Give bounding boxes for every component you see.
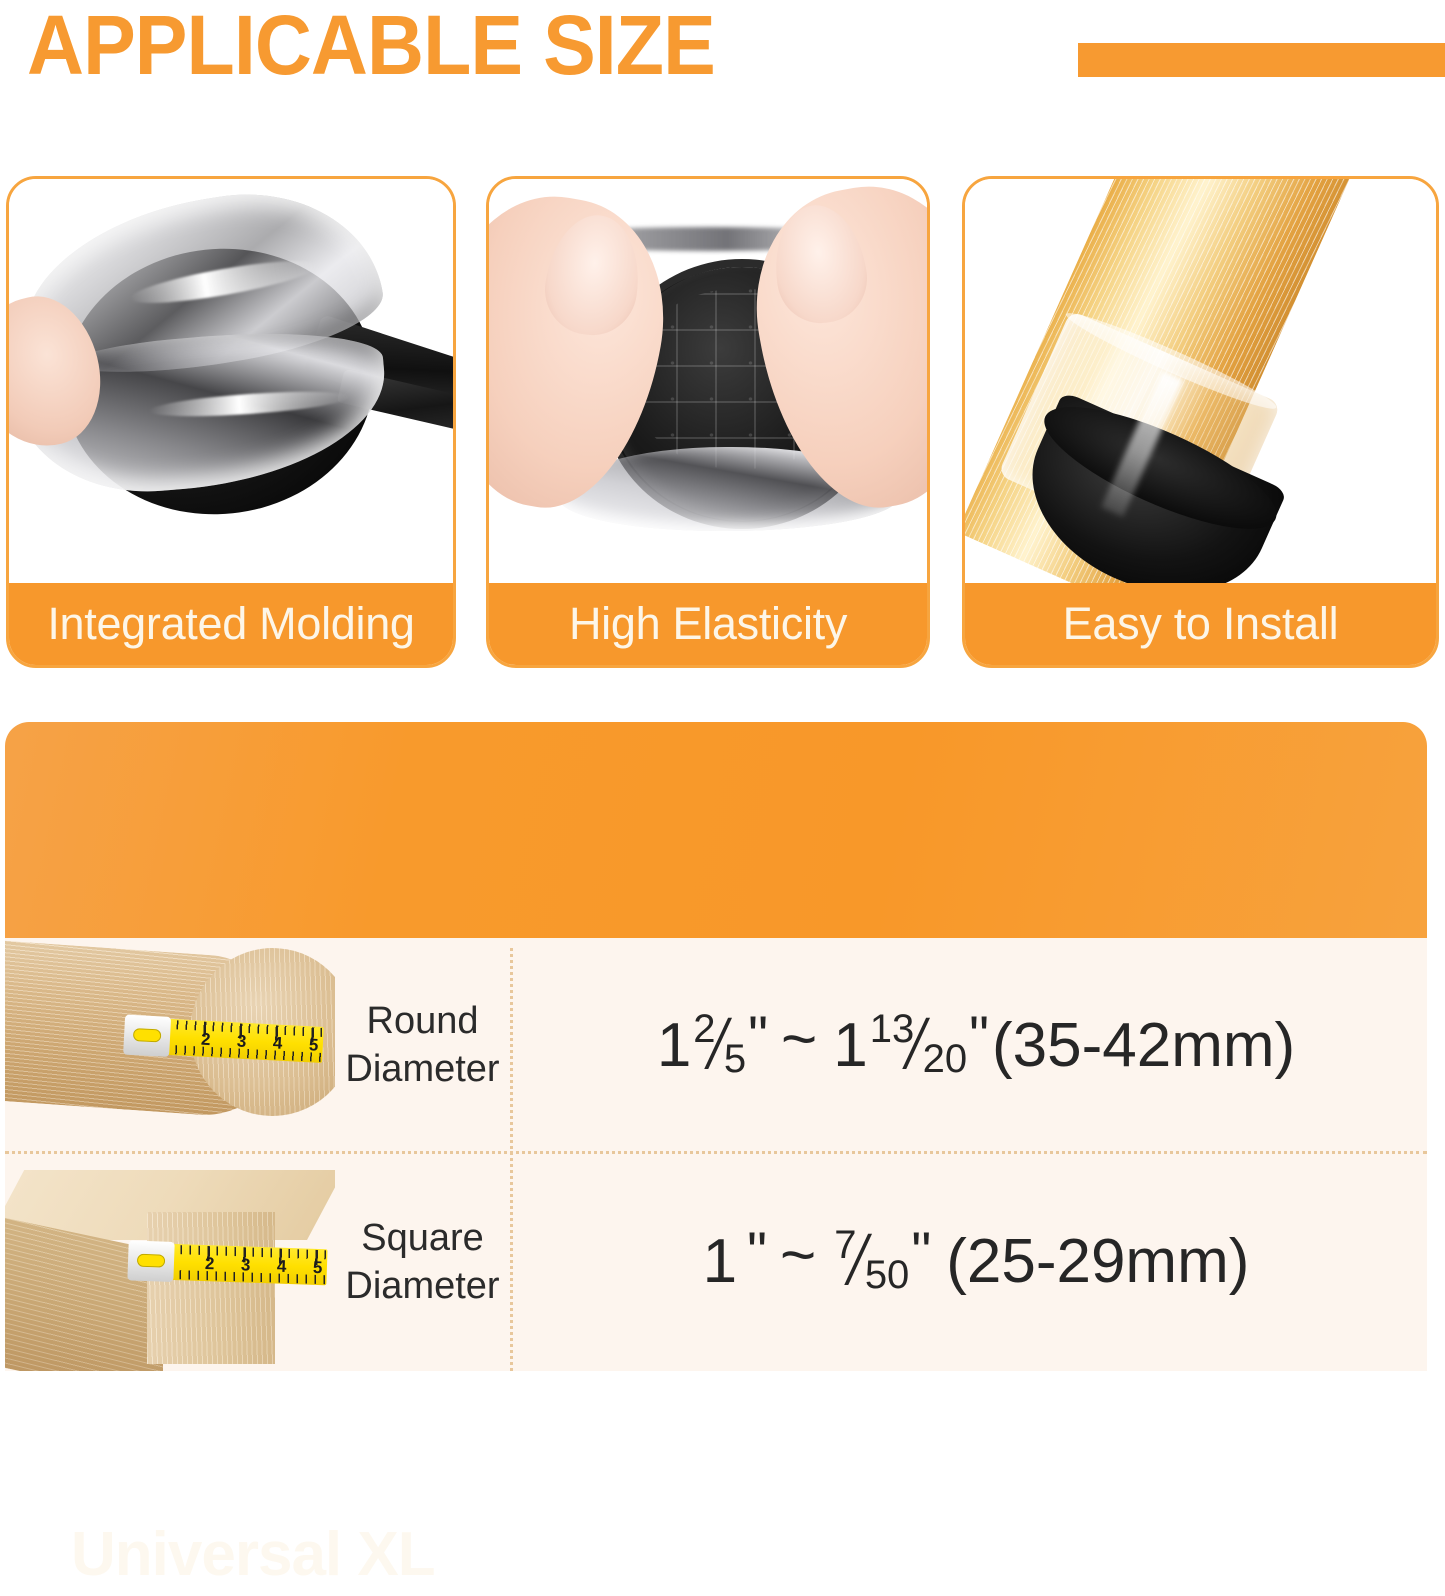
tape-number: 3 xyxy=(236,1031,247,1051)
hands-stretching-pad-icon xyxy=(489,179,927,589)
spec-row-value: 12⁄5"~113⁄20"(35-42mm) xyxy=(535,938,1417,1152)
metric-value: (35-42mm) xyxy=(986,1010,1295,1081)
feature-card-easy-to-install: Easy to Install xyxy=(962,176,1439,668)
feature-cards: Integrated Molding High Elasticity Easy … xyxy=(0,176,1445,671)
banner-subtitle: Universal XL xyxy=(71,1515,435,1595)
feature-card-label: High Elasticity xyxy=(489,583,927,665)
table-row: 2 3 4 5 Square Diameter 1"~7⁄50"(25-29mm… xyxy=(5,1152,1427,1371)
inch-mark: " xyxy=(748,1003,765,1068)
tape-measure-icon: 2 3 4 5 xyxy=(136,1243,327,1286)
range-tilde: ~ xyxy=(765,1004,833,1075)
spec-label-line2: Diameter xyxy=(345,1262,499,1310)
feature-card-label: Easy to Install xyxy=(965,583,1436,665)
tape-number: 2 xyxy=(205,1254,215,1274)
min-whole: 1 xyxy=(657,1010,691,1081)
spec-row-value: 1"~7⁄50"(25-29mm) xyxy=(535,1152,1417,1371)
feature-card-label: Integrated Molding xyxy=(9,583,453,665)
inch-mark: " xyxy=(737,1219,764,1284)
clear-cap-stretch-icon xyxy=(9,179,453,589)
spec-row-label: Square Diameter xyxy=(335,1152,510,1371)
tape-number: 2 xyxy=(200,1030,211,1050)
spec-row-label: Round Diameter xyxy=(335,938,510,1152)
tape-number: 5 xyxy=(313,1258,323,1278)
scope-banner: Universal XL SCOPE OF APPLICATION xyxy=(5,722,1427,938)
spec-table: 2 3 4 5 Round Diameter 12⁄5"~113⁄20"(35-… xyxy=(5,938,1427,1371)
tape-number: 4 xyxy=(277,1257,287,1277)
table-row: 2 3 4 5 Round Diameter 12⁄5"~113⁄20"(35-… xyxy=(5,938,1427,1152)
max-whole: 1 xyxy=(833,1010,867,1081)
header-accent-rule xyxy=(1078,43,1445,77)
round-dowel-image: 2 3 4 5 xyxy=(5,938,335,1152)
inch-mark: " xyxy=(911,1219,928,1284)
tape-number: 5 xyxy=(308,1035,319,1055)
max-fraction: 7⁄50 xyxy=(832,1219,911,1304)
square-post-image: 2 3 4 5 xyxy=(5,1152,335,1371)
spec-label-line1: Square xyxy=(361,1214,484,1262)
spec-label-line1: Round xyxy=(367,997,479,1045)
chair-leg-with-cap-icon xyxy=(965,179,1436,589)
min-fraction: 2⁄5 xyxy=(691,1003,748,1088)
metric-value: (25-29mm) xyxy=(928,1226,1249,1297)
tape-number: 3 xyxy=(241,1255,251,1275)
feature-card-integrated-molding: Integrated Molding xyxy=(6,176,456,668)
page-title: APPLICABLE SIZE xyxy=(27,0,715,94)
min-whole: 1 xyxy=(703,1226,737,1297)
range-tilde: ~ xyxy=(764,1220,832,1291)
spec-label-line2: Diameter xyxy=(345,1045,499,1093)
inch-mark: " xyxy=(969,1003,986,1068)
tape-number: 4 xyxy=(272,1033,283,1053)
header: APPLICABLE SIZE xyxy=(0,0,1445,112)
max-fraction: 13⁄20 xyxy=(868,1003,969,1088)
feature-card-high-elasticity: High Elasticity xyxy=(486,176,930,668)
banner-title: SCOPE OF APPLICATION xyxy=(571,1512,1386,1596)
